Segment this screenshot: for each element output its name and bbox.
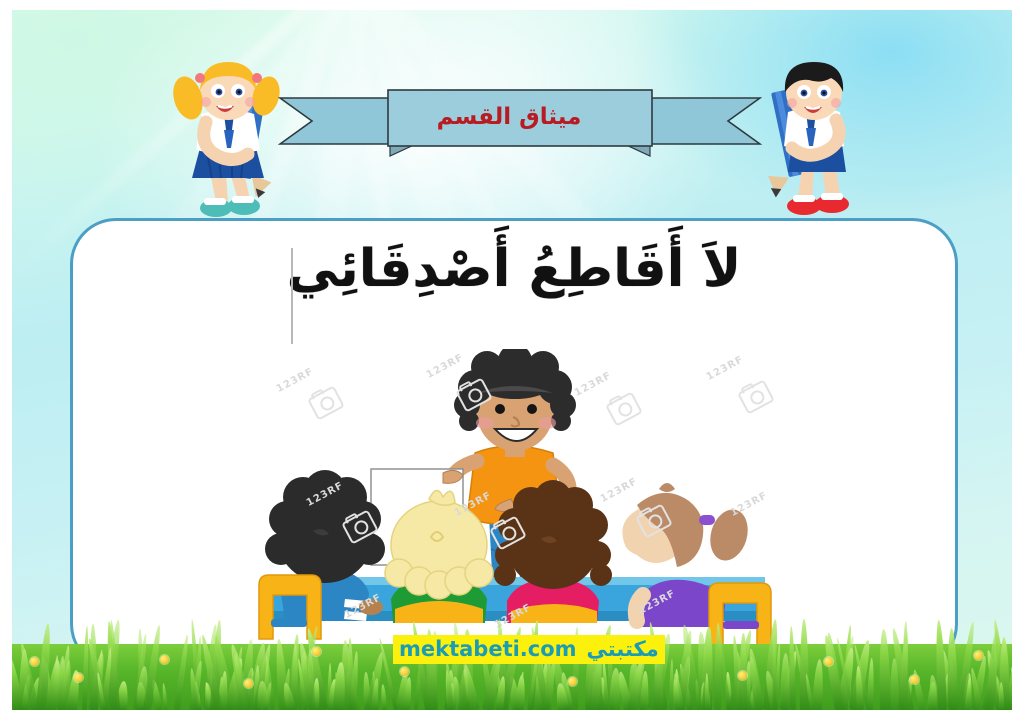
grass-flower xyxy=(160,655,169,664)
grass-flower xyxy=(74,673,83,682)
poster-canvas: ميثاق القسم لاَ أَقَاطِعُ أَصْدِقَائِي xyxy=(0,0,1024,724)
banner-title: ميثاق القسم xyxy=(388,92,630,142)
grass-flower xyxy=(824,657,833,666)
text-caret xyxy=(291,248,293,344)
grass-blade xyxy=(714,623,721,710)
site-watermark: مكتبتي mektabeti.com xyxy=(393,635,665,664)
grass-flower xyxy=(400,667,409,676)
grass-blade xyxy=(878,629,891,710)
grass-flower xyxy=(30,657,39,666)
grass-flower xyxy=(244,679,253,688)
grass-blade xyxy=(947,628,959,710)
mascot-boy-with-pencil xyxy=(752,56,872,224)
grass-flower xyxy=(910,675,919,684)
ribbon-banner: ميثاق القسم xyxy=(278,84,762,162)
page-title: لاَ أَقَاطِعُ أَصْدِقَائِي xyxy=(73,237,955,302)
grass-flower xyxy=(568,677,577,686)
site-watermark-arabic: مكتبتي xyxy=(587,638,659,660)
content-card: لاَ أَقَاطِعُ أَصْدِقَائِي xyxy=(70,218,958,670)
grass-flower xyxy=(738,671,747,680)
grass-flower xyxy=(312,647,321,656)
mascot-girl-with-pencil xyxy=(166,56,290,224)
grass-blade xyxy=(89,624,98,710)
site-watermark-domain: mektabeti.com xyxy=(399,638,577,660)
grass-flower xyxy=(974,651,983,660)
